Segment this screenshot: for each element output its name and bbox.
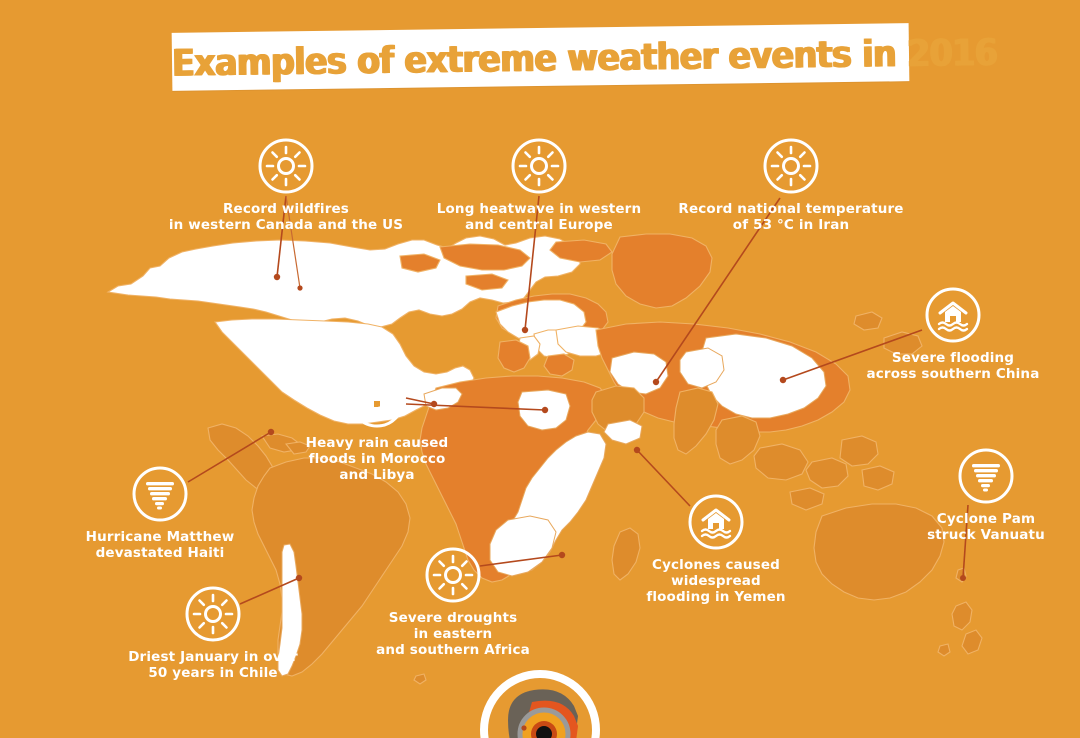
sun-icon: [424, 546, 482, 604]
callout-driest-january-chile[interactable]: Driest January in over 50 years in Chile: [63, 585, 363, 681]
callout-label: Driest January in over 50 years in Chile: [63, 649, 363, 681]
callout-label: Record national temperature of 53 °C in …: [641, 201, 941, 233]
cyclone-icon: [131, 465, 189, 523]
cyclone-icon: [957, 447, 1015, 505]
callout-record-temperature-iran[interactable]: Record national temperature of 53 °C in …: [641, 137, 941, 233]
sun-icon: [510, 137, 568, 195]
callout-label: Cyclone Pam struck Vanuatu: [836, 511, 1080, 543]
sun-icon: [762, 137, 820, 195]
infographic-canvas: .land { fill:#e4802c; stroke:#f0b265; st…: [0, 0, 1080, 738]
flood-icon: [687, 493, 745, 551]
sun-icon: [257, 137, 315, 195]
callout-cyclones-flooding-yemen[interactable]: Cyclones caused widespread flooding in Y…: [566, 493, 866, 605]
bird-with-magnifier-logo[interactable]: [478, 668, 602, 738]
callout-label: Hurricane Matthew devastated Haiti: [10, 529, 310, 561]
callout-flooding-southern-china[interactable]: Severe flooding across southern China: [803, 286, 1080, 382]
callout-cyclone-pam-vanuatu[interactable]: Cyclone Pam struck Vanuatu: [836, 447, 1080, 543]
callout-hurricane-matthew-haiti[interactable]: Hurricane Matthew devastated Haiti: [10, 465, 310, 561]
sun-icon: [184, 585, 242, 643]
flood-icon: [348, 371, 406, 429]
callout-label: Severe flooding across southern China: [803, 350, 1080, 382]
page-title: Examples of extreme weather events in 20…: [172, 25, 910, 93]
callout-label: Cyclones caused widespread flooding in Y…: [566, 557, 866, 605]
flood-icon: [924, 286, 982, 344]
